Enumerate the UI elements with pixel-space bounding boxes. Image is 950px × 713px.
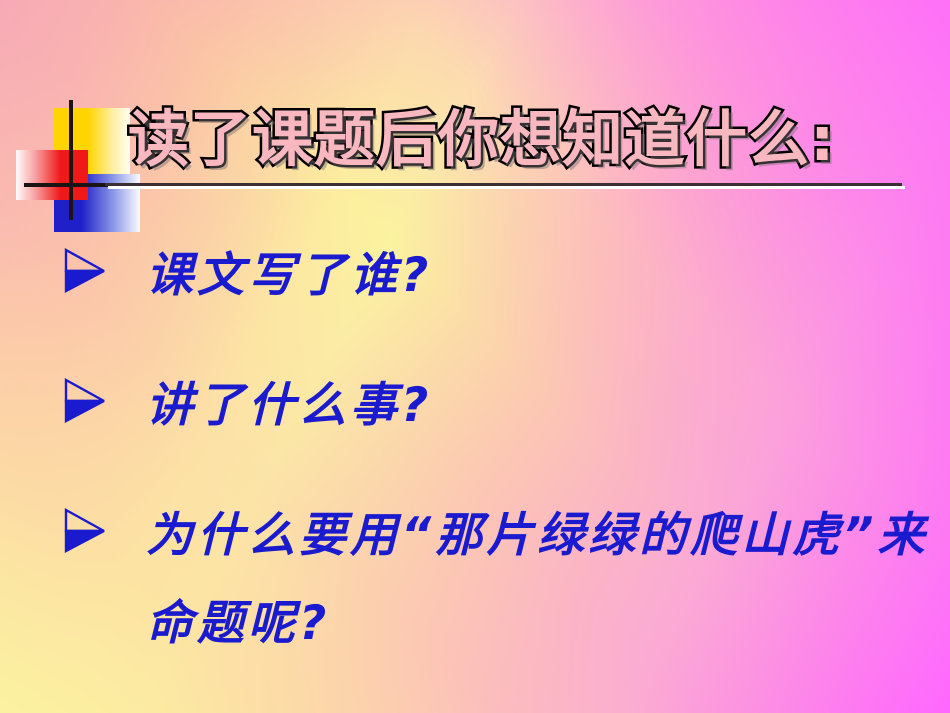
bullet-list: 课文写了谁? 讲了什么事? 为什么要用“那片绿绿的爬山虎”来命题呢?: [60, 232, 940, 668]
list-item-label: 为什么要用“那片绿绿的爬山虎”来命题呢?: [116, 492, 940, 668]
decorative-block-graphic: [16, 100, 146, 220]
arrowhead-bullet-icon: [60, 232, 116, 294]
list-item-label: 课文写了谁?: [116, 232, 940, 320]
slide-title: 读了课题后你想知道什么:: [128, 104, 918, 176]
arrowhead-bullet-icon: [60, 362, 116, 424]
arrowhead-bullet-icon: [60, 492, 116, 554]
slide-canvas: 读了课题后你想知道什么: 课文写了谁? 讲了什么事?: [0, 0, 950, 713]
title-underline-highlight: [108, 186, 905, 189]
list-item-label: 讲了什么事?: [116, 362, 940, 450]
list-item: 课文写了谁?: [60, 232, 940, 320]
deco-vertical-line: [69, 100, 73, 220]
list-item: 为什么要用“那片绿绿的爬山虎”来命题呢?: [60, 492, 940, 668]
deco-red-rect: [16, 150, 88, 200]
list-item: 讲了什么事?: [60, 362, 940, 450]
